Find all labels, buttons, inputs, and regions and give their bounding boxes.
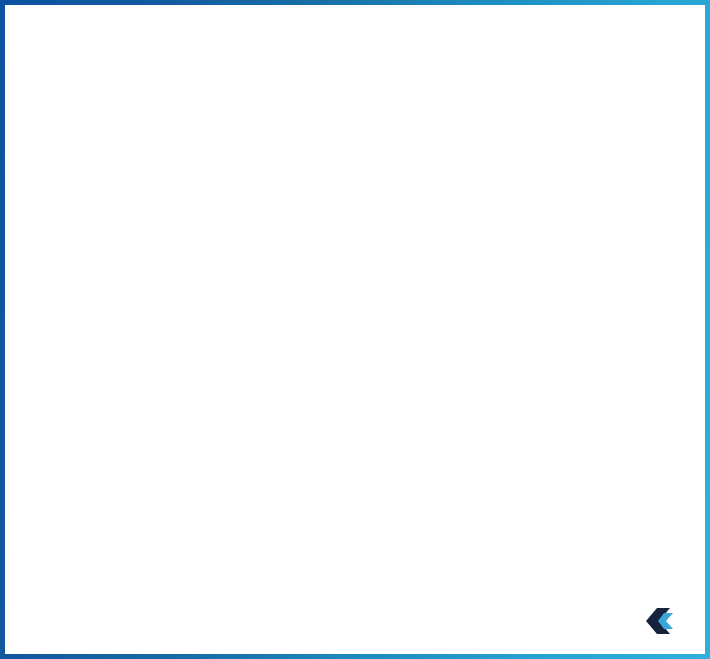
page-title xyxy=(5,5,705,17)
logo-wordmark xyxy=(683,613,687,629)
logo-arrow-icon xyxy=(646,608,676,634)
brand-logo xyxy=(646,608,687,634)
infographic-frame xyxy=(0,0,710,659)
column-header-row xyxy=(5,23,705,85)
infographic-sheet xyxy=(5,5,705,654)
footer xyxy=(5,596,705,654)
